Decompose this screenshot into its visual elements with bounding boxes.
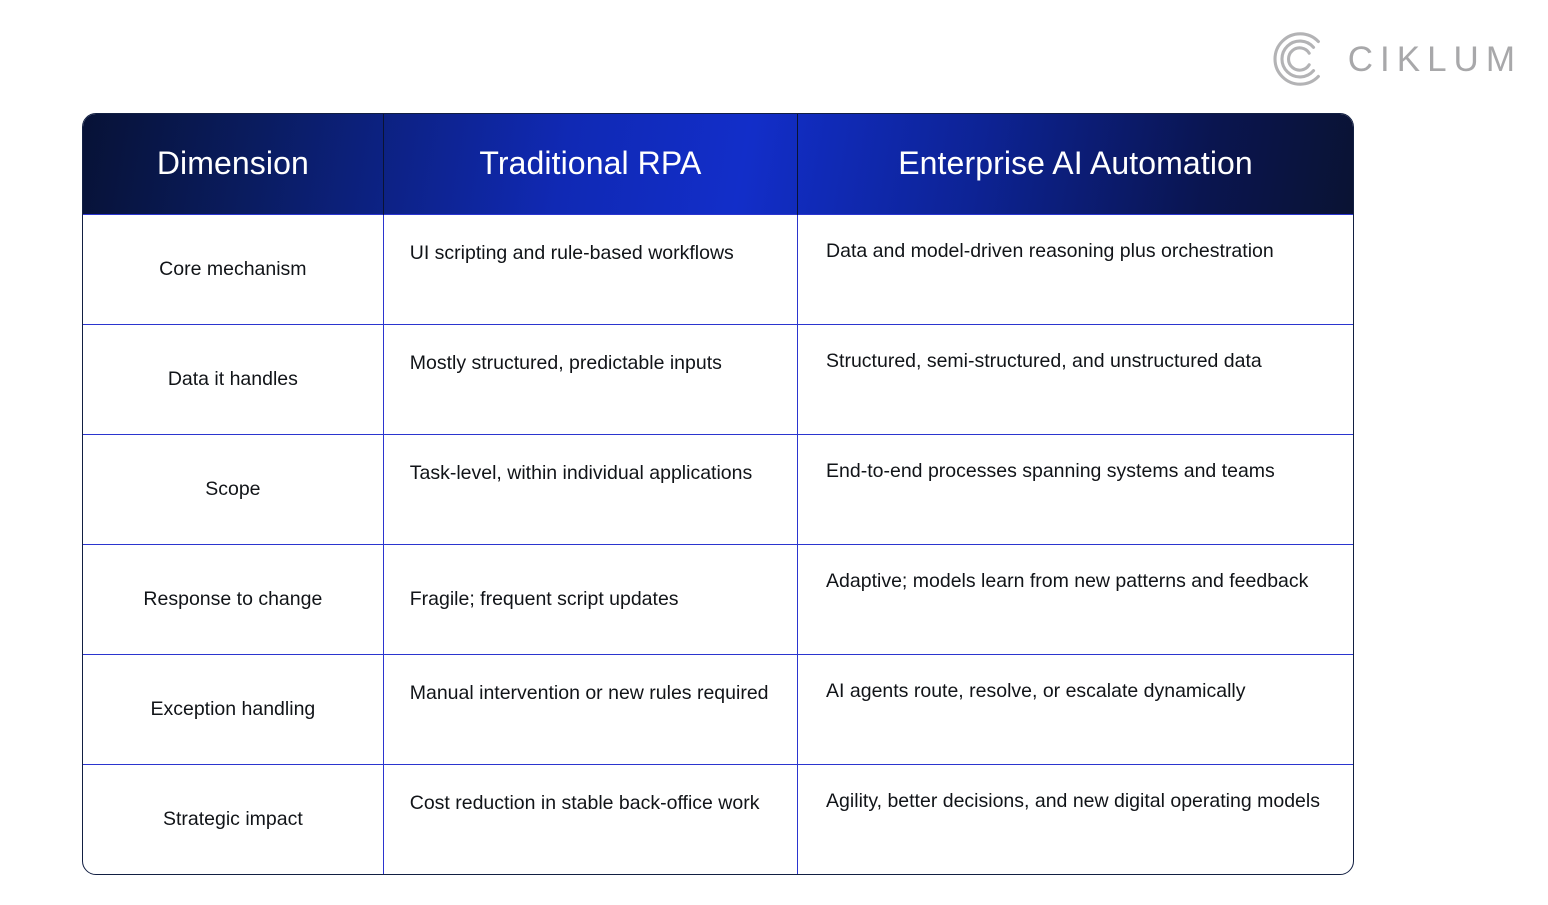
cell-enterprise-ai: Agility, better decisions, and new digit… [798,764,1353,874]
table-body: Core mechanism UI scripting and rule-bas… [83,214,1353,874]
cell-traditional-rpa: UI scripting and rule-based workflows [383,214,797,324]
table-header: Dimension Traditional RPA Enterprise AI … [83,114,1353,214]
cell-dimension: Response to change [83,544,383,654]
table-row: Strategic impact Cost reduction in stabl… [83,764,1353,874]
brand-logo: CIKLUM [1268,28,1522,90]
cell-enterprise-ai: Adaptive; models learn from new patterns… [798,544,1353,654]
table-header-row: Dimension Traditional RPA Enterprise AI … [83,114,1353,214]
cell-dimension: Core mechanism [83,214,383,324]
cell-dimension: Exception handling [83,654,383,764]
cell-enterprise-ai: Structured, semi-structured, and unstruc… [798,324,1353,434]
table-row: Core mechanism UI scripting and rule-bas… [83,214,1353,324]
cell-traditional-rpa: Cost reduction in stable back-office wor… [383,764,797,874]
table-row: Response to change Fragile; frequent scr… [83,544,1353,654]
comparison-table: Dimension Traditional RPA Enterprise AI … [83,114,1353,874]
cell-dimension: Strategic impact [83,764,383,874]
cell-dimension: Scope [83,434,383,544]
ciklum-concentric-c-icon [1268,28,1330,90]
table-row: Data it handles Mostly structured, predi… [83,324,1353,434]
cell-dimension: Data it handles [83,324,383,434]
cell-enterprise-ai: AI agents route, resolve, or escalate dy… [798,654,1353,764]
cell-traditional-rpa: Mostly structured, predictable inputs [383,324,797,434]
cell-enterprise-ai: Data and model-driven reasoning plus orc… [798,214,1353,324]
brand-name: CIKLUM [1348,42,1522,77]
column-header-dimension: Dimension [83,114,383,214]
column-header-traditional-rpa: Traditional RPA [383,114,797,214]
comparison-table-container: Dimension Traditional RPA Enterprise AI … [82,113,1354,875]
cell-enterprise-ai: End-to-end processes spanning systems an… [798,434,1353,544]
cell-traditional-rpa: Task-level, within individual applicatio… [383,434,797,544]
column-header-enterprise-ai-automation: Enterprise AI Automation [798,114,1353,214]
table-row: Exception handling Manual intervention o… [83,654,1353,764]
table-row: Scope Task-level, within individual appl… [83,434,1353,544]
cell-traditional-rpa: Fragile; frequent script updates [383,544,797,654]
cell-traditional-rpa: Manual intervention or new rules require… [383,654,797,764]
